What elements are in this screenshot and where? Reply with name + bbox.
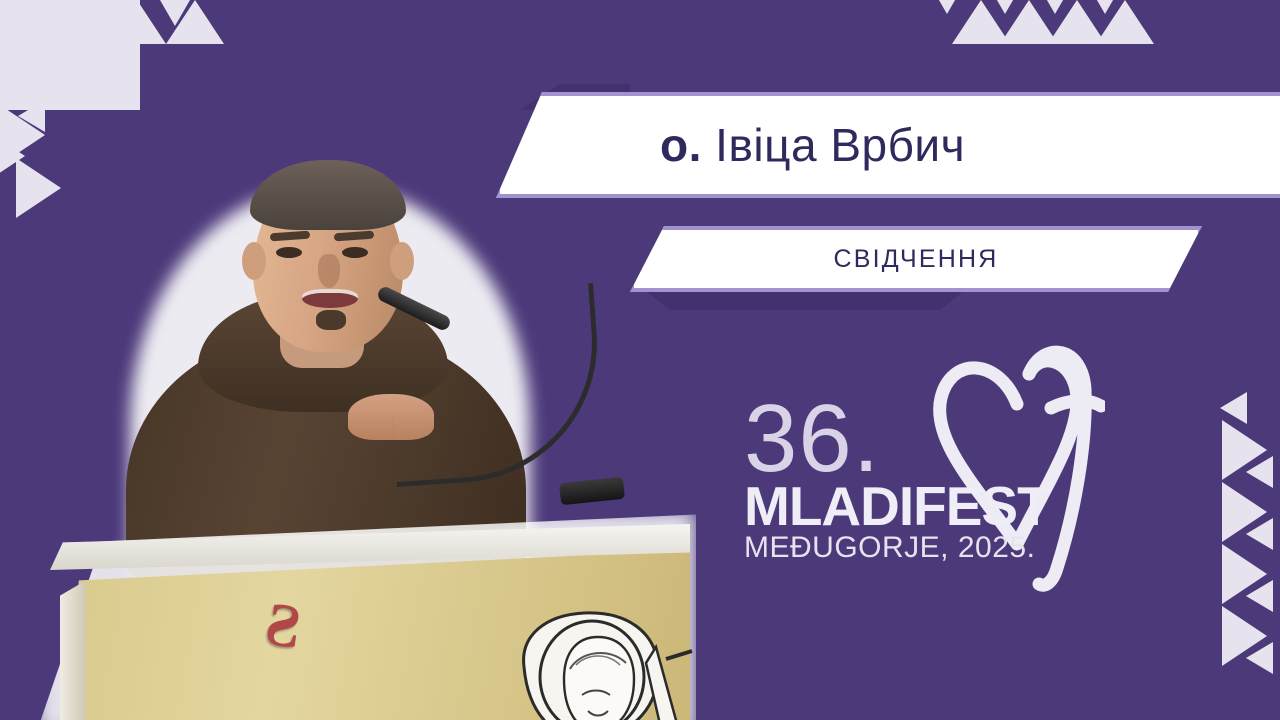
speaker-name-text: о. Івіца Врбич: [660, 118, 965, 172]
festival-place-year: MEĐUGORJE, 2025.: [744, 533, 1044, 563]
madonna-emblem-icon: [506, 607, 696, 720]
nose: [318, 254, 340, 288]
eye-left: [276, 247, 302, 258]
segment-label-text: СВІДЧЕННЯ: [833, 245, 998, 274]
segment-label-banner: СВІДЧЕННЯ: [630, 226, 1202, 292]
speaker-name-prefix: о.: [660, 119, 702, 171]
triangle-up-icon: [1096, 0, 1154, 44]
triangle-left-icon: [1246, 642, 1273, 674]
podium: S: [20, 490, 720, 720]
goatee: [316, 310, 346, 330]
ear-right: [390, 242, 414, 280]
ear-left: [242, 242, 266, 280]
mouth: [302, 289, 358, 308]
podium-side-edge: [60, 550, 86, 720]
triangle-up-icon: [108, 0, 166, 44]
speaker-name-banner: о. Івіца Врбич: [496, 92, 1280, 198]
triangle-up-icon: [166, 0, 224, 44]
speaker-name-value: Івіца Врбич: [715, 119, 965, 171]
eye-right: [342, 247, 368, 258]
festival-edition: 36.: [744, 400, 1044, 479]
festival-name: MLADIFEST: [744, 481, 1044, 532]
broadcast-lower-third-slide: S о. Івіца Врбич: [0, 0, 1280, 720]
speaker-photo: S: [20, 195, 720, 720]
festival-logo: 36. MLADIFEST MEĐUGORJE, 2025.: [744, 400, 1044, 600]
